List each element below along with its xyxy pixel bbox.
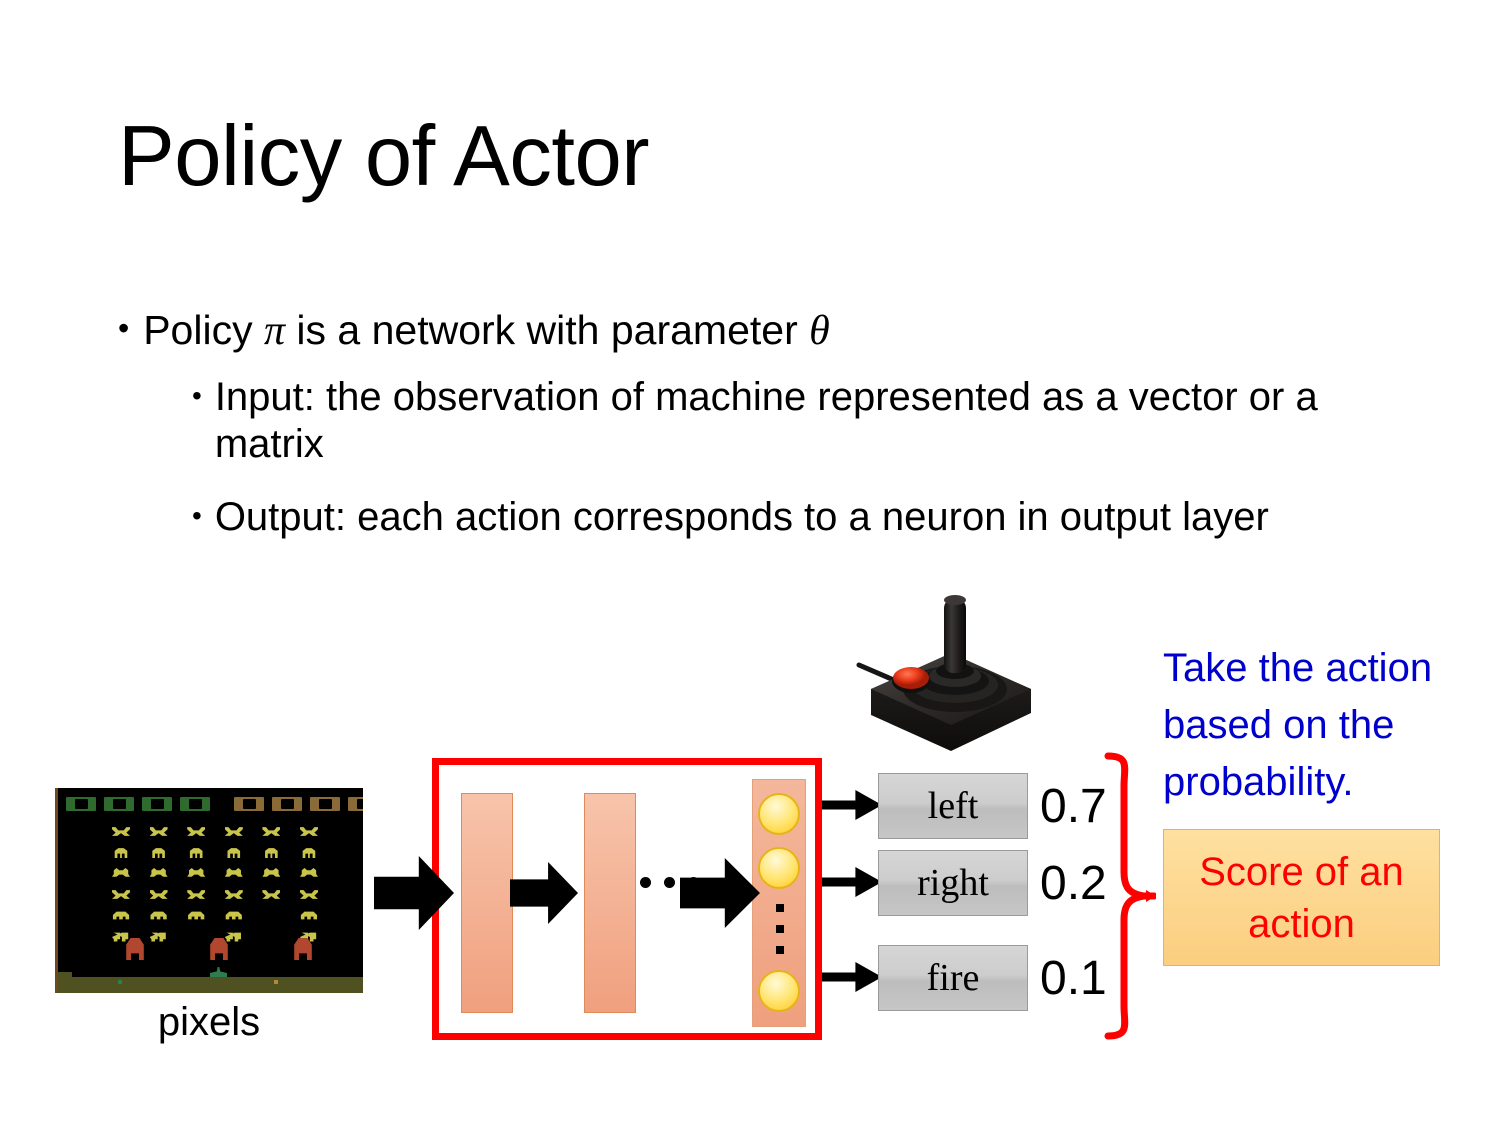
bullet-output-text: Output: each action corresponds to a neu… [215, 494, 1269, 541]
probability-fire: 0.1 [1040, 951, 1107, 1006]
take-action-note: Take the action based on the probability… [1163, 640, 1493, 810]
bullet-policy-text: Policy π is a network with parameter θ [143, 306, 830, 357]
hidden-layer-2 [584, 793, 636, 1013]
joystick-icon [855, 585, 1045, 760]
bullet-policy: • Policy π is a network with parameter θ [118, 306, 1418, 357]
output-layer [752, 779, 806, 1027]
bullet-input: • Input: the observation of machine repr… [192, 374, 1412, 468]
bullet-policy-middle: is a network with parameter [285, 307, 809, 353]
bullet-input-text: Input: the observation of machine repres… [215, 374, 1412, 468]
output-neuron [758, 847, 800, 889]
probability-right: 0.2 [1040, 856, 1107, 911]
output-neuron [758, 970, 800, 1012]
pi-symbol: π [264, 308, 285, 354]
action-box-fire: fire [878, 945, 1028, 1011]
bullet-marker: • [192, 374, 202, 410]
page-title: Policy of Actor [118, 112, 649, 201]
score-shields [66, 797, 358, 813]
bullet-policy-prefix: Policy [143, 307, 264, 353]
right-arrow-icon [812, 962, 882, 992]
atari-game-screen-icon [55, 788, 363, 993]
probability-left: 0.7 [1040, 779, 1107, 834]
bullet-marker: • [118, 306, 129, 344]
policy-network-box [432, 758, 822, 1040]
bullet-marker: • [192, 494, 202, 530]
score-of-an-action-callout: Score of an action [1163, 829, 1440, 966]
invader-grid [110, 824, 320, 950]
ground-step [58, 972, 72, 977]
action-box-left: left [878, 773, 1028, 839]
right-arrow-icon [812, 867, 882, 897]
hidden-layer-1 [461, 793, 513, 1013]
theta-symbol: θ [809, 308, 830, 354]
right-arrow-icon [812, 790, 882, 820]
output-neuron [758, 793, 800, 835]
vertical-ellipsis-icon [776, 904, 784, 954]
action-box-right: right [878, 850, 1028, 916]
bunker-row [124, 938, 314, 960]
bullet-output: • Output: each action corresponds to a n… [192, 494, 1412, 541]
curly-brace-icon [1100, 750, 1156, 1042]
ground-strip [58, 977, 363, 993]
pixels-caption: pixels [55, 1000, 363, 1045]
